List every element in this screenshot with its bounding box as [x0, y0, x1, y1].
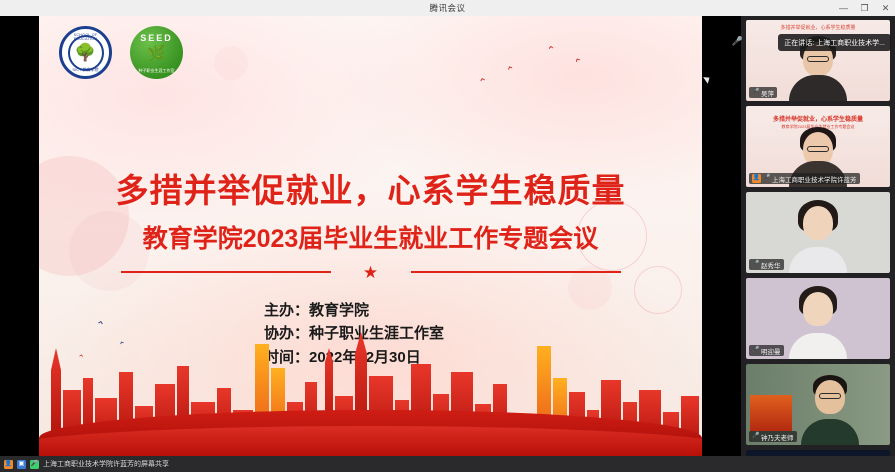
slide-divider: ★	[121, 264, 621, 278]
host-badge-icon: 👤	[752, 174, 761, 183]
slide-title-line1: 多措并举促就业，心系学生稳质量	[39, 164, 702, 212]
mic-muted-icon: 🎤	[752, 89, 759, 96]
logo-seed-word: SEED	[130, 33, 183, 43]
participant-namebar: 🎤 明迎曼	[749, 345, 784, 356]
seed-studio-logo: SEED 🌿 种子职业生涯工作室	[130, 26, 183, 79]
speaking-toast: 正在讲话: 上海工商职业技术学...	[778, 34, 891, 51]
mic-muted-icon: 🎤	[752, 347, 759, 354]
participant-namebar: 👤 🎤 上海工商职业技术学院许蓝芳	[749, 173, 860, 184]
leaf-icon: 🌿	[130, 46, 183, 61]
screen-share-text: 上海工商职业技术学院许蓝芳的屏幕共享	[43, 459, 169, 469]
bird-icon: ⌃	[478, 77, 490, 90]
bird-icon: ⌃	[573, 56, 586, 70]
presentation-slide: SCHOOL OF EDUCATION 🌳 SICT 教育学院 SEED 🌿 种…	[39, 16, 702, 456]
slide-logos: SCHOOL OF EDUCATION 🌳 SICT 教育学院 SEED 🌿 种…	[59, 26, 183, 79]
slide-headline: 多措并举促就业，心系学生稳质量 教育学院2023届毕业生就业工作专题会议 ★	[39, 164, 702, 278]
screen-share-status-bar: 👤 ▣ 🎤 上海工商职业技术学院许蓝芳的屏幕共享	[0, 456, 895, 472]
participant-namebar: 🎤 钟乃夫老师	[749, 431, 797, 442]
window-controls: — ❐ ✕	[838, 0, 891, 16]
logo-edu-arc-bottom: SICT 教育学院	[62, 67, 109, 73]
participant-name: 钟乃夫老师	[761, 432, 794, 442]
participant-tile[interactable]: 多措并举促就业，心系学生稳质量 🎤 吴萍	[746, 20, 890, 101]
wave-shape	[39, 426, 702, 456]
participant-name: 吴萍	[761, 88, 774, 98]
participant-rail[interactable]: 多措并举促就业，心系学生稳质量 🎤 吴萍 多措并举促就业，心系学生稳质量 教育学…	[741, 16, 895, 456]
star-icon: ★	[363, 264, 378, 281]
mic-active-icon: 🎤	[763, 175, 770, 182]
participant-namebar: 🎤 赵秀华	[749, 259, 784, 270]
logo-edu-arc-top: SCHOOL OF EDUCATION	[62, 33, 109, 41]
tencent-meeting-window: 腾讯会议 — ❐ ✕ SCHOOL OF EDUCATION 🌳 SICT 教育…	[0, 0, 895, 472]
participant-name: 上海工商职业技术学院许蓝芳	[772, 174, 857, 184]
participant-tile[interactable]: 🎤 钟乃夫老师	[746, 364, 890, 445]
logo-seed-caption: 种子职业生涯工作室	[130, 68, 183, 74]
close-icon[interactable]: ✕	[880, 3, 891, 14]
shared-screen-stage[interactable]: SCHOOL OF EDUCATION 🌳 SICT 教育学院 SEED 🌿 种…	[0, 16, 741, 456]
decor-blob	[214, 46, 248, 80]
slide-title-line2: 教育学院2023届毕业生就业工作专题会议	[39, 219, 702, 255]
skyline-graphic	[39, 306, 702, 456]
speaking-mic-icon: 🎤	[732, 36, 743, 47]
school-of-education-logo: SCHOOL OF EDUCATION 🌳 SICT 教育学院	[59, 26, 112, 79]
minimize-icon[interactable]: —	[838, 3, 849, 14]
mic-icon[interactable]: 🎤	[30, 460, 39, 469]
divider-line-right	[411, 271, 621, 273]
host-badge-icon: 👤	[4, 460, 13, 469]
bird-icon: ⌃	[546, 45, 557, 57]
screen-share-icon[interactable]: ▣	[17, 460, 26, 469]
participant-tile[interactable]: 🎤 赵秀华	[746, 192, 890, 273]
divider-line-left	[121, 271, 331, 273]
bird-icon: ⌃	[505, 65, 518, 79]
speaking-toast-text: 正在讲话: 上海工商职业技术学...	[784, 38, 885, 48]
mic-muted-icon: 🎤	[752, 261, 759, 268]
window-title: 腾讯会议	[429, 2, 465, 14]
participant-name: 赵秀华	[761, 260, 781, 270]
mic-muted-icon: 🎤	[752, 433, 759, 440]
participant-tile[interactable]: 🎤 明迎曼	[746, 278, 890, 359]
maximize-icon[interactable]: ❐	[859, 3, 870, 14]
title-bar: 腾讯会议 — ❐ ✕	[0, 0, 895, 16]
participant-namebar: 🎤 吴萍	[749, 87, 777, 98]
participant-tile-active-speaker[interactable]: 多措并举促就业，心系学生稳质量 教育学院2023届毕业生就业工作专题会议 👤 🎤…	[746, 106, 890, 187]
participant-name: 明迎曼	[761, 346, 781, 356]
